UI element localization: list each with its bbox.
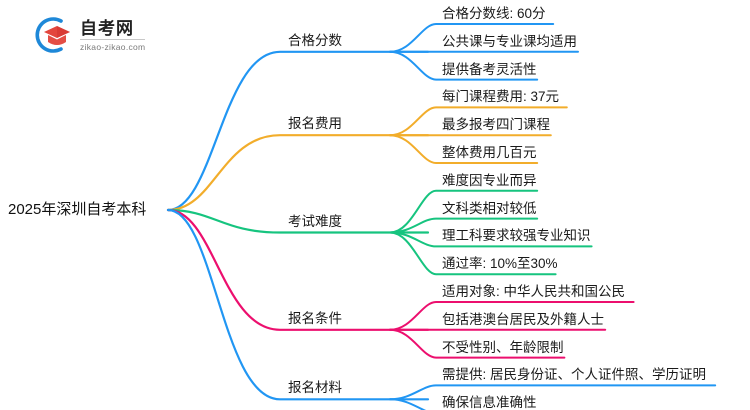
- leaf-label-5-2[interactable]: 确保信息准确性: [442, 396, 537, 410]
- mindmap-connector: [390, 385, 715, 399]
- branch-label-1[interactable]: 合格分数: [288, 34, 342, 48]
- leaf-label-3-3[interactable]: 理工科要求较强专业知识: [442, 229, 591, 243]
- site-logo: 自考网 zikao-zikao.com: [30, 12, 180, 58]
- leaf-label-3-4[interactable]: 通过率: 10%至30%: [442, 257, 558, 271]
- graduation-cap-icon: [30, 15, 74, 55]
- leaf-label-2-3[interactable]: 整体费用几百元: [442, 146, 537, 160]
- leaf-label-4-1[interactable]: 适用对象: 中华人民共和国公民: [442, 285, 625, 299]
- branch-label-4[interactable]: 报名条件: [288, 312, 342, 326]
- logo-name-cn: 自考网: [80, 19, 145, 40]
- leaf-label-2-1[interactable]: 每门课程费用: 37元: [442, 90, 559, 104]
- mindmap-connector: [168, 135, 428, 210]
- leaf-label-1-2[interactable]: 公共课与专业课均适用: [442, 35, 577, 49]
- leaf-label-3-2[interactable]: 文科类相对较低: [442, 202, 537, 216]
- leaf-label-2-2[interactable]: 最多报考四门课程: [442, 118, 550, 132]
- branch-label-5[interactable]: 报名材料: [288, 381, 342, 395]
- leaf-label-3-1[interactable]: 难度因专业而异: [442, 174, 537, 188]
- leaf-label-5-1[interactable]: 需提供: 居民身份证、个人证件照、学历证明: [442, 368, 706, 382]
- leaf-label-1-3[interactable]: 提供备考灵活性: [442, 63, 537, 77]
- logo-wordmark: 自考网 zikao-zikao.com: [80, 18, 145, 53]
- mindmap-root-node[interactable]: 2025年深圳自考本科: [8, 202, 146, 217]
- branch-label-2[interactable]: 报名费用: [288, 117, 342, 131]
- leaf-label-1-1[interactable]: 合格分数线: 60分: [442, 7, 546, 21]
- leaf-label-4-3[interactable]: 不受性别、年龄限制: [442, 341, 564, 355]
- leaf-label-4-2[interactable]: 包括港澳台居民及外籍人士: [442, 313, 604, 327]
- branch-label-3[interactable]: 考试难度: [288, 215, 342, 229]
- logo-domain: zikao-zikao.com: [80, 40, 145, 53]
- mindmap-connector: [168, 210, 428, 399]
